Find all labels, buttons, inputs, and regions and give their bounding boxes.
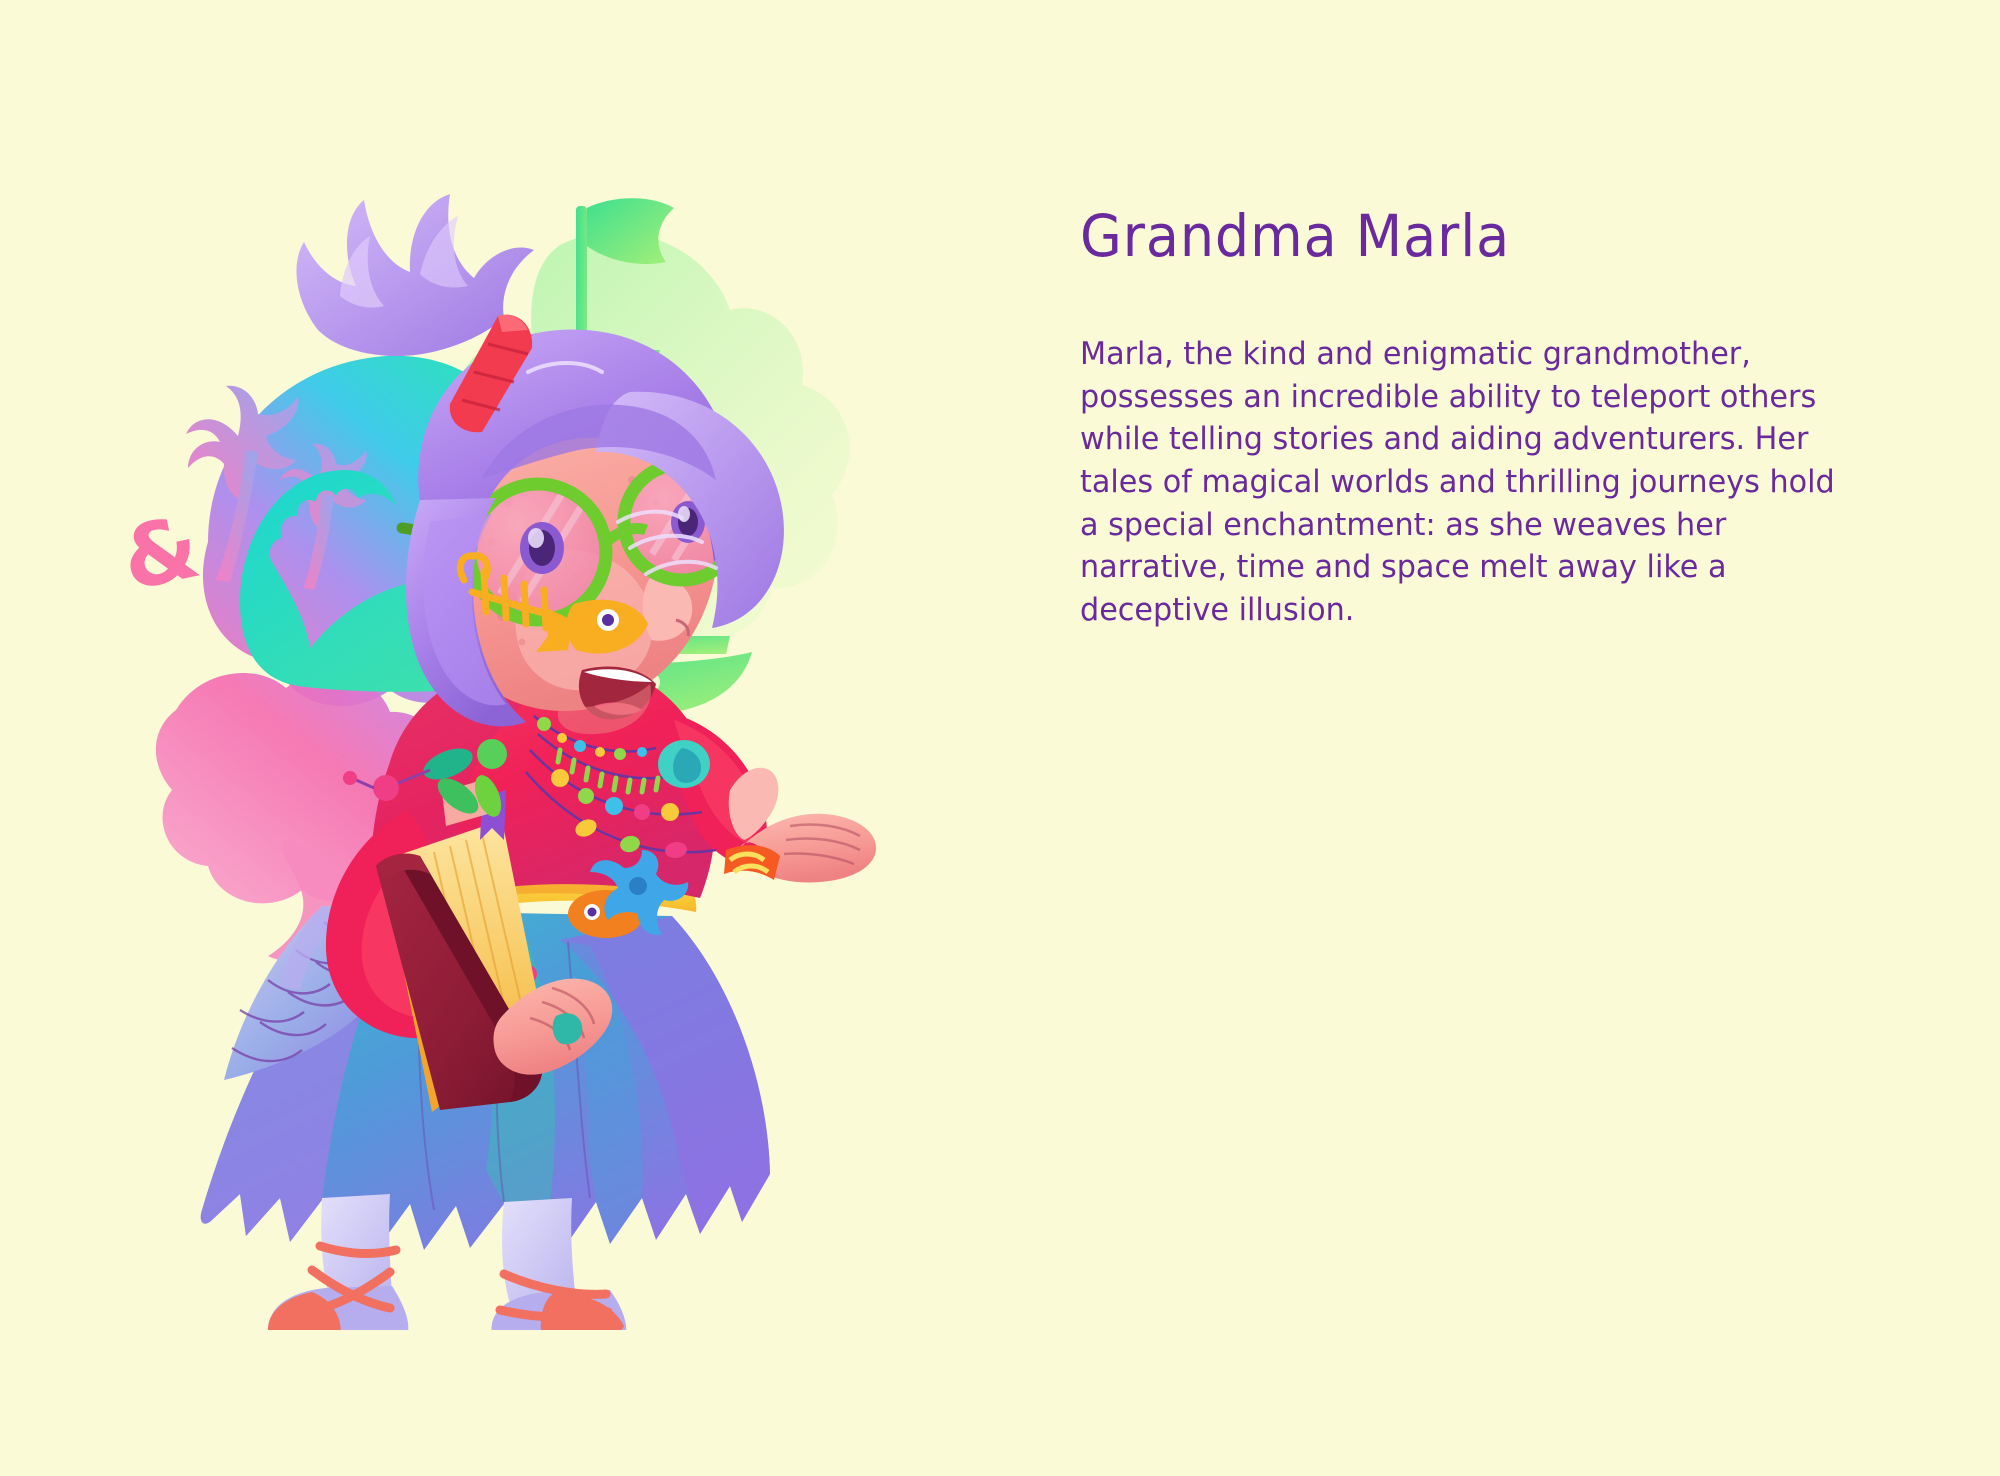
character-description: Marla, the kind and enigmatic grandmothe… (1080, 333, 1848, 632)
character-profile-page: & (0, 0, 2000, 1476)
character-illustration-svg: & (90, 150, 920, 1330)
character-name-title: Grandma Marla (1080, 206, 1852, 267)
character-illustration: & (90, 150, 920, 1330)
character-text-panel: Grandma Marla Marla, the kind and enigma… (1080, 206, 1910, 632)
right-hand-open-palm (724, 768, 876, 883)
ampersand-glyph: & (114, 497, 208, 610)
